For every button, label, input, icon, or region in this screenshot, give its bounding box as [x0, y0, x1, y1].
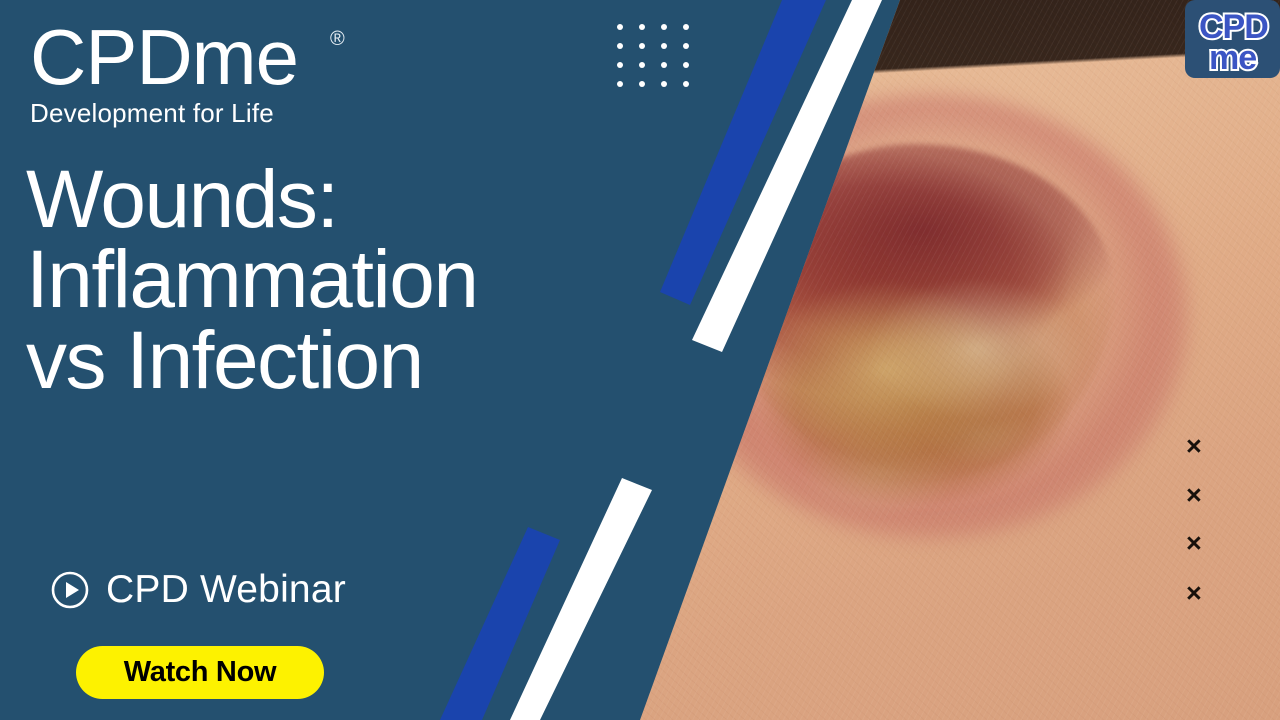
brand-tagline: Development for Life [30, 98, 298, 129]
dot-grid-icon [615, 22, 695, 90]
page-title-line-1: Wounds: [26, 160, 686, 240]
badge-line-1: CPD [1199, 12, 1268, 43]
page-title: Wounds: Inflammation vs Infection [26, 160, 686, 401]
badge-line-2: me [1209, 43, 1268, 74]
skin-marker-x-2: × [1186, 482, 1202, 509]
webinar-label-row: CPD Webinar [50, 568, 346, 612]
play-circle-icon[interactable] [50, 570, 90, 610]
cpdme-corner-badge-text: CPD me [1199, 12, 1268, 73]
registered-trademark-icon: ® [330, 28, 345, 51]
watch-now-button[interactable]: Watch Now [76, 646, 324, 699]
brand-lockup: CPDme ® Development for Life [30, 20, 298, 129]
skin-marker-x-1: × [1186, 433, 1202, 460]
cpdme-corner-badge[interactable]: CPD me [1185, 0, 1280, 78]
brand-name: CPDme [30, 20, 298, 94]
skin-marker-x-4: × [1186, 580, 1202, 607]
promo-banner: × × × × CPDme ® Development for Life Wou… [0, 0, 1280, 720]
page-title-line-2: Inflammation [26, 240, 686, 320]
page-title-line-3: vs Infection [26, 321, 686, 401]
skin-marker-x-3: × [1186, 530, 1202, 557]
webinar-label: CPD Webinar [106, 568, 346, 612]
white-diagonal-lower [510, 478, 652, 720]
blue-diagonal-lower [440, 527, 560, 720]
